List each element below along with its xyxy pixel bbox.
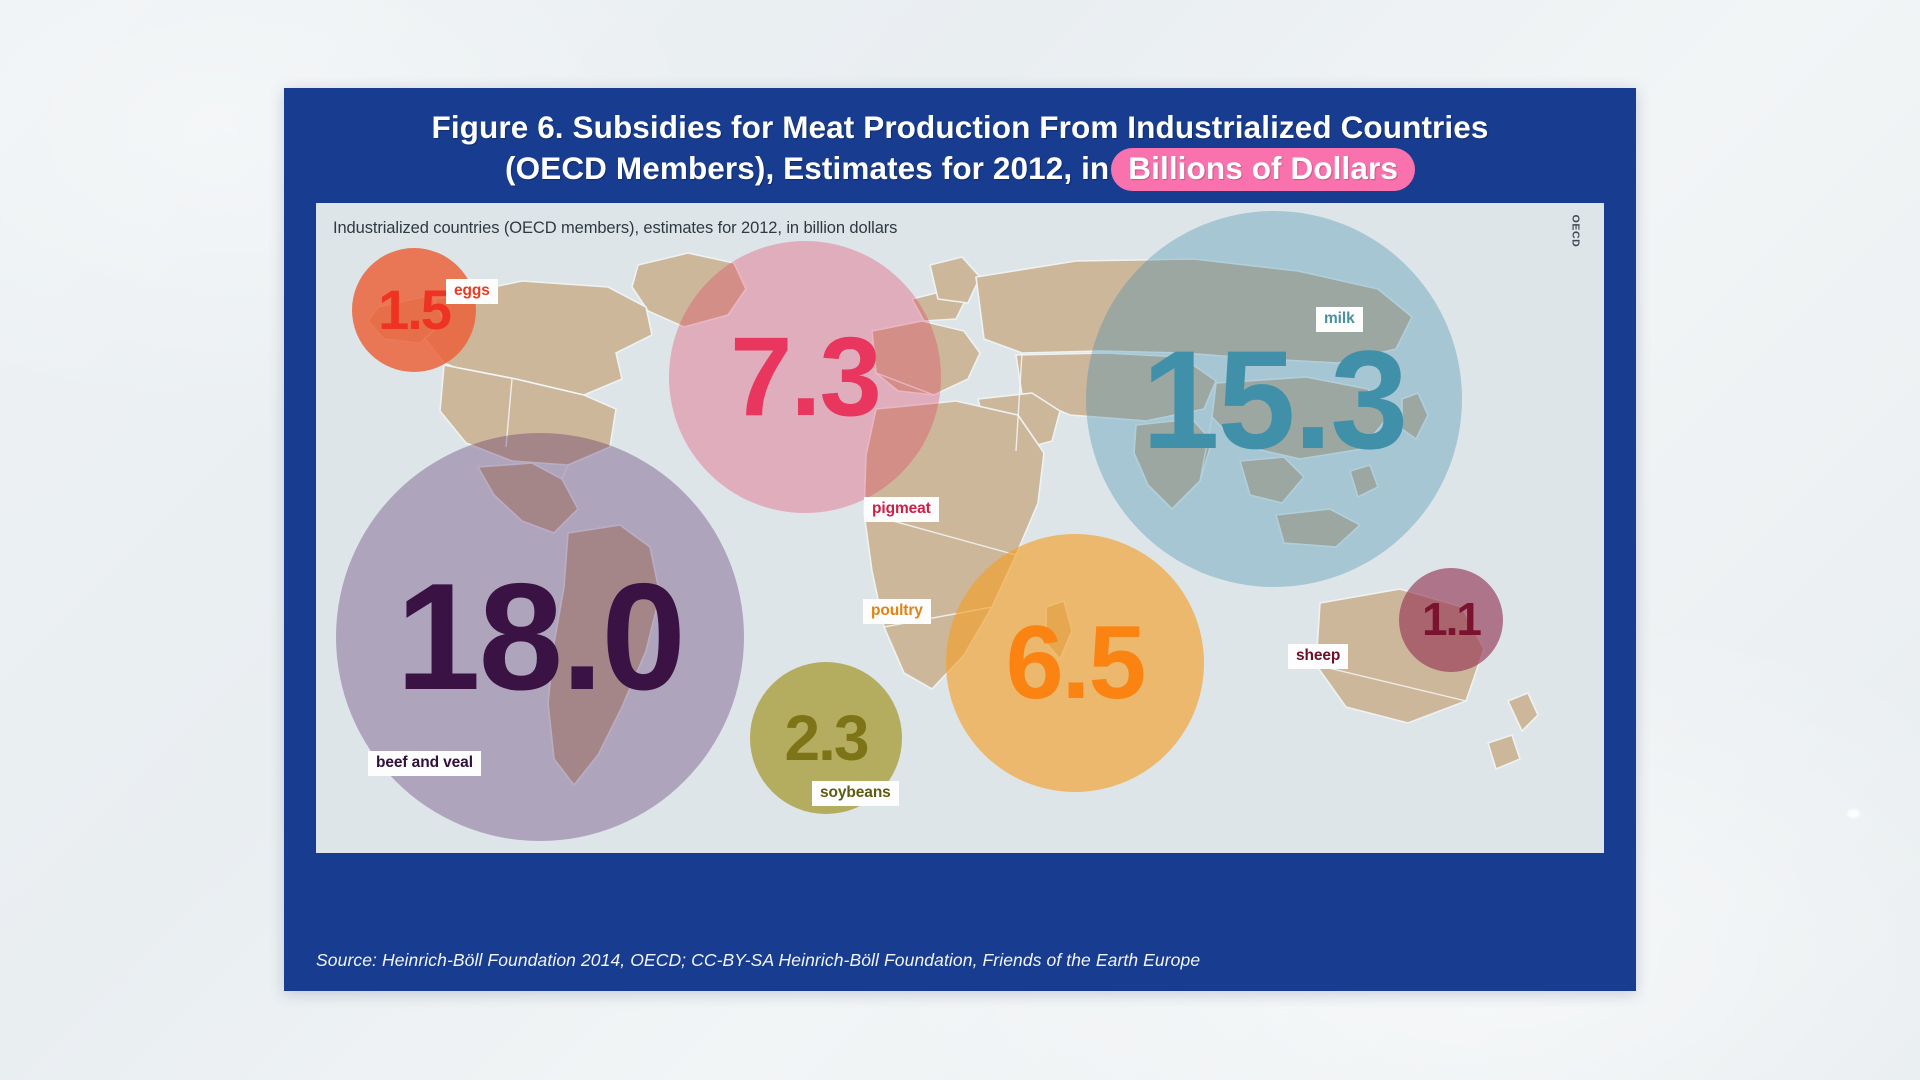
bubble-sheep[interactable]: 1.1 — [1399, 568, 1503, 672]
source-citation: Source: Heinrich-Böll Foundation 2014, O… — [316, 950, 1200, 971]
bubble-value-poultry: 6.5 — [1006, 614, 1145, 713]
panel-subtitle: Industrialized countries (OECD members),… — [333, 219, 897, 238]
bubble-value-eggs: 1.5 — [378, 283, 450, 336]
title-highlight-billions-of-dollars: Billions of Dollars — [1111, 148, 1415, 192]
bubble-label-pigmeat: pigmeat — [864, 497, 939, 522]
bubble-milk[interactable]: 15.3 — [1086, 211, 1462, 587]
bubble-label-sheep: sheep — [1288, 644, 1348, 669]
page-title-line-1: Figure 6. Subsidies for Meat Production … — [284, 108, 1636, 148]
bubble-eggs[interactable]: 1.5 — [352, 248, 476, 372]
bubble-label-soybeans: soybeans — [812, 781, 899, 806]
bubble-value-sheep: 1.1 — [1422, 598, 1480, 642]
bubble-poultry[interactable]: 6.5 — [946, 534, 1204, 792]
page-title: Figure 6. Subsidies for Meat Production … — [284, 108, 1636, 191]
oecd-attribution-label: OECD — [1570, 215, 1582, 248]
page-title-line-2-text: (OECD Members), Estimates for 2012, in — [505, 150, 1109, 186]
bubble-pigmeat[interactable]: 7.3 — [669, 241, 941, 513]
slide-frame: Figure 6. Subsidies for Meat Production … — [284, 88, 1636, 991]
bubble-label-eggs: eggs — [446, 279, 498, 304]
desk-reflection-dot — [1847, 809, 1860, 818]
bubble-value-beef-and-veal: 18.0 — [396, 565, 684, 709]
bubble-value-soybeans: 2.3 — [785, 708, 868, 769]
bubble-value-milk: 15.3 — [1142, 333, 1406, 466]
bubble-label-beef-and-veal: beef and veal — [368, 751, 481, 776]
infographic-panel: Industrialized countries (OECD members),… — [316, 203, 1604, 853]
bubble-value-pigmeat: 7.3 — [730, 324, 880, 430]
page-title-line-2: (OECD Members), Estimates for 2012, inBi… — [284, 148, 1636, 192]
bubble-label-poultry: poultry — [863, 599, 931, 624]
bubble-label-milk: milk — [1316, 307, 1363, 332]
bubble-beef-and-veal[interactable]: 18.0 — [336, 433, 744, 841]
